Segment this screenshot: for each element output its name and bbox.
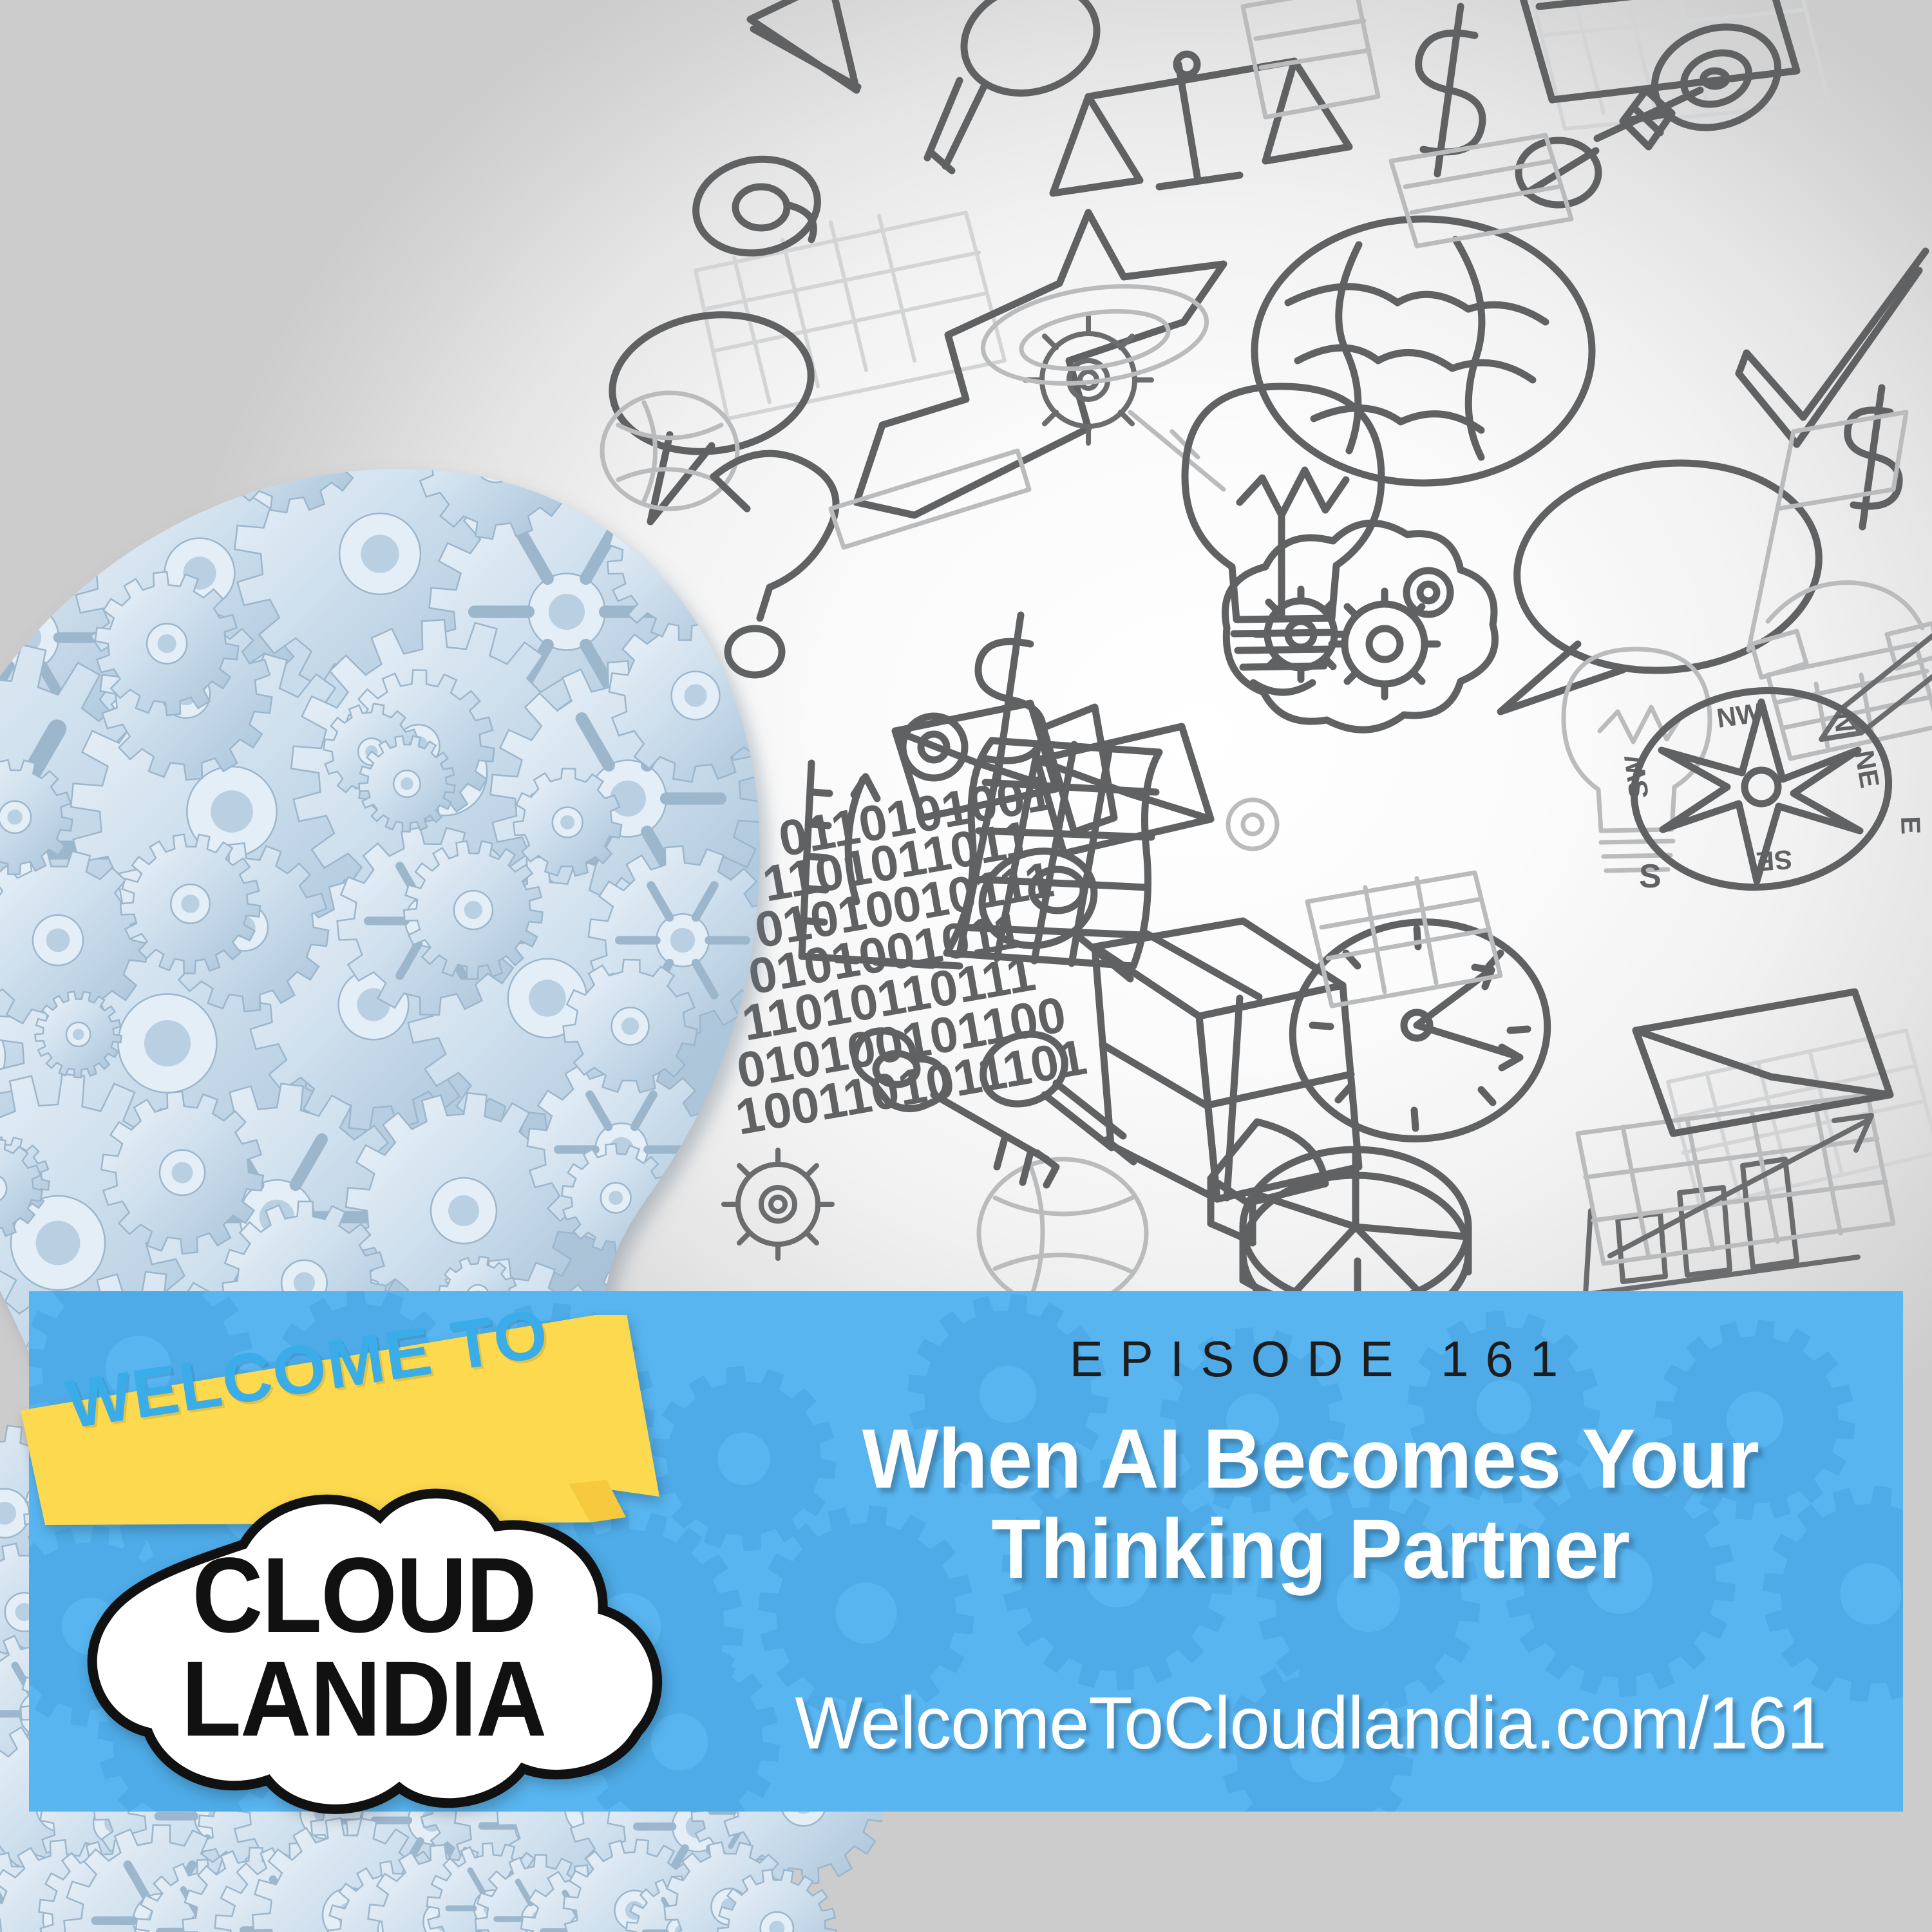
episode-title: When AI Becomes Your Thinking Partner (766, 1414, 1855, 1594)
compass-label-s: S (1639, 858, 1662, 895)
compass-label-nw: NW (1715, 697, 1764, 734)
calculator-icon (1243, 0, 1378, 117)
scales-icon (1053, 54, 1349, 193)
gear-icon (1025, 317, 1151, 443)
episode-url: WelcomeToCloudlandia.com/161 (761, 1681, 1860, 1766)
brain-cloud-gears-icon (1226, 523, 1495, 730)
episode-title-line-1: When AI Becomes Your (766, 1414, 1855, 1504)
episode-number-label: EPISODE 161 (753, 1330, 1874, 1388)
clock-icon (1282, 909, 1558, 1151)
megaphone-icon (750, 0, 858, 90)
dot-icon (1228, 800, 1277, 849)
logo-line-2: LANDIA (182, 1647, 546, 1751)
episode-title-line-2: Thinking Partner (766, 1504, 1855, 1594)
magnifier-icon (927, 0, 1111, 171)
podcast-cover-art: NW N NE E SE SW S (0, 0, 1932, 1932)
globe-icon (979, 1159, 1146, 1307)
dollar-sign-icon (1848, 388, 1899, 527)
compass-label-sw: SW (1618, 753, 1654, 800)
globe-icon (1255, 219, 1592, 483)
compass-label-n: N (1828, 711, 1861, 734)
compass-label-e: E (1895, 816, 1926, 835)
compass-label-ne: NE (1849, 748, 1885, 790)
cloudlandia-logo-text: CLOUD LANDIA (39, 1467, 689, 1828)
logo-line-1: CLOUD (192, 1544, 536, 1647)
compass-label-se: SE (1755, 844, 1793, 877)
